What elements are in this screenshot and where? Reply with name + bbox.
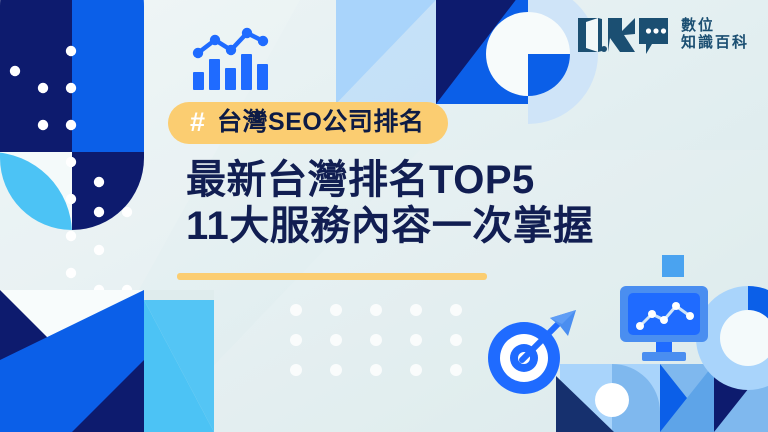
brand-logo[interactable]: 數位 知識百科	[576, 14, 749, 56]
category-badge: # 台灣SEO公司排名	[168, 102, 448, 144]
hash-icon: #	[190, 109, 205, 136]
dot-grid-pattern	[288, 300, 468, 376]
brand-name-line-2: 知識百科	[681, 35, 749, 52]
small-blue-square	[662, 255, 684, 277]
page-title: 最新台灣排名TOP5 11大服務內容一次掌握	[186, 158, 686, 249]
brand-name: 數位 知識百科	[681, 18, 749, 52]
dkp-speech-bubble-logo-icon	[576, 14, 672, 56]
banner-canvas: 數位 知識百科 # 台灣SEO公司排名 最新台灣排名TOP5 11大服務內容一次…	[0, 0, 768, 432]
brand-name-line-1: 數位	[681, 18, 749, 35]
headline-underline	[177, 273, 487, 280]
monitor-line-chart-icon	[618, 284, 710, 364]
badge-label: 台灣SEO公司排名	[217, 110, 424, 135]
headline-line-2: 11大服務內容一次掌握	[186, 204, 686, 250]
bar-line-chart-icon	[188, 26, 272, 92]
headline-line-1: 最新台灣排名TOP5	[186, 158, 686, 204]
target-arrow-icon	[478, 306, 586, 402]
top-center-pale-panel	[336, 0, 436, 104]
left-bottom-decoration	[0, 290, 214, 432]
